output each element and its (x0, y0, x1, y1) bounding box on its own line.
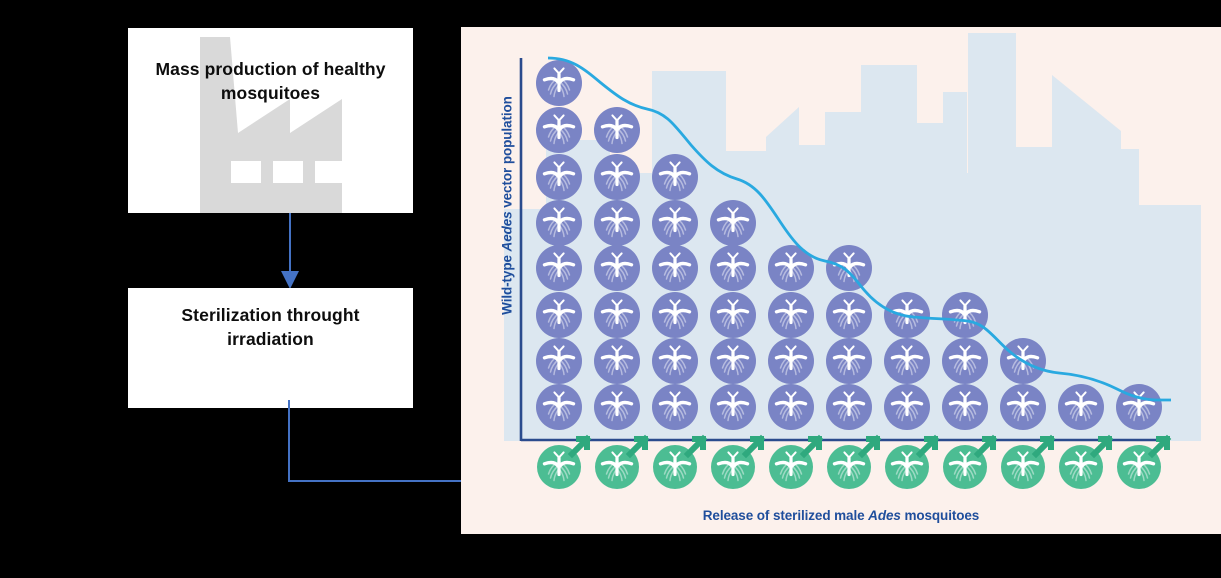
x-axis-label-prefix: Release of sterilized male (703, 508, 868, 523)
x-axis-label-genus: Ades (868, 508, 901, 523)
x-axis-label: Release of sterilized male Ades mosquito… (461, 508, 1221, 523)
flow-box-sterilization[interactable]: Sterilization throught irradiation (128, 288, 413, 408)
wild-type-column (768, 245, 814, 430)
flow-box-mass-production[interactable]: Mass production of healthy mosquitoes (128, 28, 413, 213)
y-axis-label: Wild-type Aedes vector population (500, 81, 515, 331)
wild-type-column (652, 154, 698, 430)
wild-type-column (942, 292, 988, 430)
y-axis-label-suffix: vector population (500, 96, 515, 211)
wild-type-column (1058, 384, 1104, 430)
wild-type-column (710, 200, 756, 430)
released-male-icon-row (537, 439, 1167, 489)
flow-box-label: Sterilization throught irradiation (146, 288, 396, 351)
connector-arrow-down (262, 213, 318, 293)
x-axis-label-suffix: mosquitoes (901, 508, 979, 523)
flow-box-label: Mass production of healthy mosquitoes (143, 28, 399, 105)
wild-type-column (1000, 338, 1046, 430)
infographic-root: Mass production of healthy mosquitoes St… (0, 0, 1221, 578)
y-axis-label-prefix: Wild-type (500, 251, 515, 314)
y-axis-label-genus: Aedes (500, 211, 515, 251)
chart-panel: Wild-type Aedes vector population Releas… (461, 27, 1221, 534)
wild-type-column (536, 60, 582, 430)
wild-type-column (884, 292, 930, 430)
wild-type-column (594, 107, 640, 430)
plot-area (461, 27, 1221, 534)
